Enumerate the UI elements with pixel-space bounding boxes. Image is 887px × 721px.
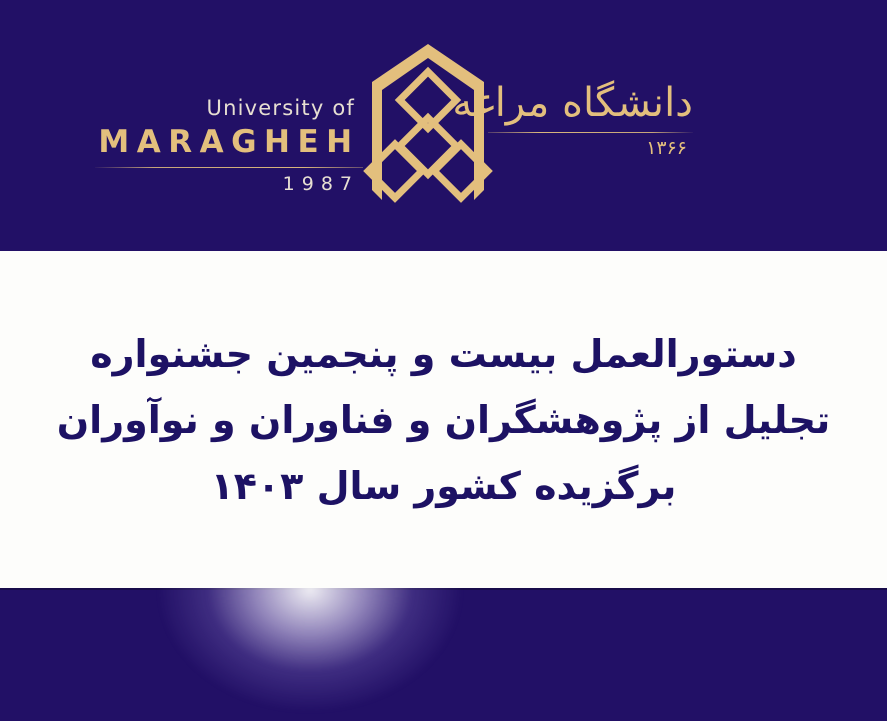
title-line-1: دستورالعمل بیست و پنجمین جشنواره <box>90 321 797 387</box>
logo-persian-block: دانشگاه مراغه ۱۳۶۶ <box>488 80 693 158</box>
title-line-2: تجلیل از پژوهشگران و فناوران و نوآوران <box>57 387 831 453</box>
logo-maragheh-text: MARAGHEH <box>95 123 363 162</box>
title-line-3: برگزیده کشور سال ۱۴۰۳ <box>211 453 677 519</box>
document-cover-page: University of MARAGHEH 1987 <box>0 0 887 721</box>
logo-persian-divider <box>488 132 693 133</box>
university-emblem-icon <box>358 38 498 216</box>
logo-university-name-persian: دانشگاه مراغه <box>488 80 693 126</box>
logo-founding-year-latin: 1987 <box>95 175 363 194</box>
title-section: دستورالعمل بیست و پنجمین جشنواره تجلیل ا… <box>0 251 887 588</box>
logo-latin-divider <box>95 167 363 168</box>
logo-founding-year-persian: ۱۳۶۶ <box>488 139 693 158</box>
footer-band <box>0 588 887 721</box>
header-band: University of MARAGHEH 1987 <box>0 0 887 251</box>
university-logo-lockup: University of MARAGHEH 1987 <box>0 0 887 251</box>
footer-glow-decoration <box>160 588 460 710</box>
logo-latin-block: University of MARAGHEH 1987 <box>95 98 363 194</box>
logo-university-of-text: University of <box>95 98 363 119</box>
